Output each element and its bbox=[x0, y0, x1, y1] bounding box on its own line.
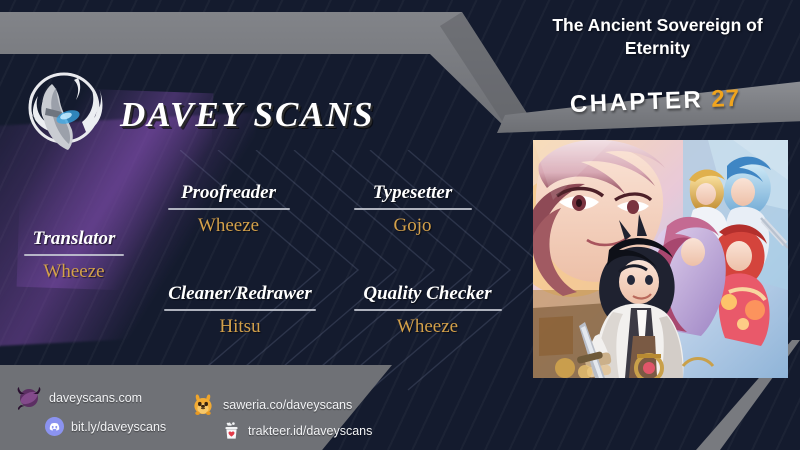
credit-divider bbox=[24, 254, 124, 256]
credit-role: Cleaner/Redrawer bbox=[140, 283, 340, 305]
trakteer-icon bbox=[222, 421, 241, 440]
credit-role: Quality Checker bbox=[330, 283, 525, 305]
brand-name: DAVEY SCANS bbox=[120, 95, 374, 135]
credit-typesetter: Typesetter Gojo bbox=[330, 182, 495, 237]
knight-helmet-flame-logo bbox=[12, 62, 117, 162]
credit-name: Wheeze bbox=[4, 261, 144, 283]
website-icon bbox=[16, 385, 42, 411]
saweria-icon bbox=[190, 392, 216, 418]
credit-divider bbox=[354, 309, 502, 311]
credit-role: Translator bbox=[4, 228, 144, 250]
footer-link-label: trakteer.id/daveyscans bbox=[248, 424, 372, 438]
credits-page: DAVEY SCANS The Ancient Sovereign of Ete… bbox=[0, 0, 800, 450]
credit-name: Hitsu bbox=[140, 316, 340, 338]
footer-link-label: saweria.co/daveyscans bbox=[223, 398, 352, 412]
footer-link-label: bit.ly/daveyscans bbox=[71, 420, 166, 434]
chapter-cover-artwork bbox=[533, 140, 788, 378]
credit-name: Gojo bbox=[330, 215, 495, 237]
footer-link-trakteer[interactable]: trakteer.id/daveyscans bbox=[222, 421, 372, 440]
footer-link-label: daveyscans.com bbox=[49, 391, 142, 405]
credit-name: Wheeze bbox=[146, 215, 311, 237]
credit-name: Wheeze bbox=[330, 316, 525, 338]
credit-translator: Translator Wheeze bbox=[4, 228, 144, 283]
footer-link-saweria[interactable]: saweria.co/daveyscans bbox=[190, 392, 352, 418]
footer-link-website[interactable]: daveyscans.com bbox=[16, 385, 142, 411]
credit-role: Proofreader bbox=[146, 182, 311, 204]
discord-icon bbox=[45, 417, 64, 436]
series-title: The Ancient Sovereign of Eternity bbox=[520, 14, 795, 60]
credit-divider bbox=[168, 208, 290, 210]
credit-cleaner-redrawer: Cleaner/Redrawer Hitsu bbox=[140, 283, 340, 338]
credit-divider bbox=[354, 208, 472, 210]
chapter-number: 27 bbox=[711, 85, 741, 114]
credit-proofreader: Proofreader Wheeze bbox=[146, 182, 311, 237]
credit-role: Typesetter bbox=[330, 182, 495, 204]
chapter-word: CHAPTER bbox=[569, 86, 703, 119]
footer-link-discord[interactable]: bit.ly/daveyscans bbox=[45, 417, 166, 436]
credit-divider bbox=[164, 309, 316, 311]
credit-quality-checker: Quality Checker Wheeze bbox=[330, 283, 525, 338]
